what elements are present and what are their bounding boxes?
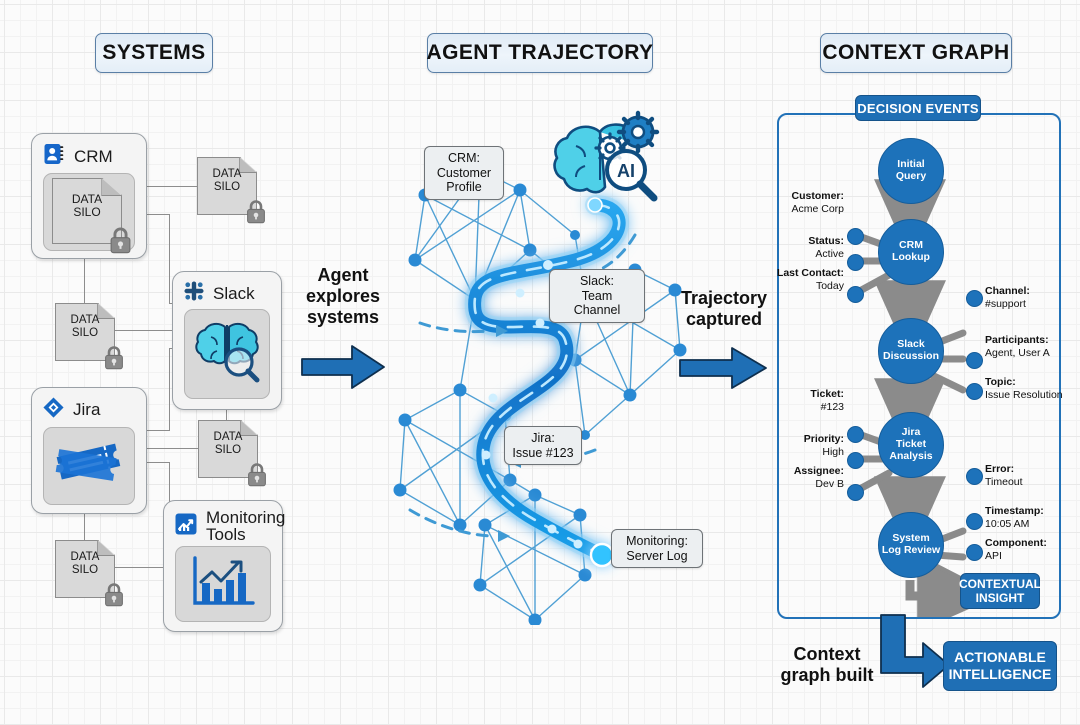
attr-key-error: Error: xyxy=(985,463,1014,475)
silo-label: DATA SILO xyxy=(52,193,122,220)
attr-text-channel: Channel: #support xyxy=(985,285,1030,311)
attr-value-ticket: #123 xyxy=(821,401,844,413)
attr-value-component: API xyxy=(985,550,1002,562)
trajectory-callout-monitoring[interactable]: Monitoring: Server Log xyxy=(611,529,703,568)
attr-dot-timestamp[interactable] xyxy=(966,513,983,530)
system-card-monitoring-label: Monitoring Tools xyxy=(206,509,285,544)
attr-text-priority: Priority: High xyxy=(770,433,844,459)
silo-label-line1: DATA xyxy=(198,431,258,444)
system-card-slack-label: Slack xyxy=(213,285,255,302)
attr-key-topic: Topic: xyxy=(985,376,1016,388)
system-card-jira-label: Jira xyxy=(73,401,100,418)
column-title-systems-label: SYSTEMS xyxy=(102,41,205,65)
attr-text-customer: Customer: Acme Corp xyxy=(770,190,844,216)
attr-dot-topic[interactable] xyxy=(966,383,983,400)
system-card-crm-header: CRM xyxy=(42,142,113,171)
attr-value-assignee: Dev B xyxy=(815,478,844,490)
column-title-agent-trajectory: AGENT TRAJECTORY xyxy=(427,33,653,73)
attr-key-assignee: Assignee: xyxy=(794,465,844,477)
system-card-slack-header: Slack xyxy=(183,280,255,307)
diagram-canvas: SYSTEMS AGENT TRAJECTORY CONTEXT GRAPH xyxy=(0,0,1080,725)
monitoring-chart-icon xyxy=(174,512,198,541)
context-node-system-log-review[interactable]: System Log Review xyxy=(878,512,944,578)
context-node-crm-lookup[interactable]: CRM Lookup xyxy=(878,219,944,285)
attr-text-error: Error: Timeout xyxy=(985,463,1023,489)
attr-value-channel: #support xyxy=(985,298,1026,310)
padlock-icon xyxy=(108,225,133,254)
footer-label-context-graph-built: Context graph built xyxy=(772,644,882,686)
system-card-monitoring-tools[interactable]: Monitoring Tools xyxy=(163,500,283,632)
attr-value-error: Timeout xyxy=(985,476,1023,488)
silo-label-line2: SILO xyxy=(198,444,258,457)
stage-arrow-2 xyxy=(678,345,768,396)
bar-line-chart-icon xyxy=(187,553,259,616)
actionable-intelligence-chip[interactable]: ACTIONABLE INTELLIGENCE xyxy=(943,641,1057,691)
attr-key-participants: Participants: xyxy=(985,334,1049,346)
attr-dot-channel[interactable] xyxy=(966,290,983,307)
system-card-slack-body xyxy=(184,309,270,399)
attr-dot-customer[interactable] xyxy=(847,228,864,245)
data-silo-crm-external: DATA SILO xyxy=(197,157,257,215)
gear-large-icon xyxy=(619,113,657,151)
elbow-right-arrow-icon xyxy=(873,613,953,688)
wire-jira-branch-h xyxy=(145,430,170,431)
column-title-systems: SYSTEMS xyxy=(95,33,213,73)
ai-badge-text: AI xyxy=(617,161,635,181)
attr-value-customer: Acme Corp xyxy=(791,203,844,215)
system-card-jira-body xyxy=(43,427,135,505)
padlock-icon xyxy=(103,344,125,370)
wire-jira-to-silo4 xyxy=(84,512,85,542)
attr-key-timestamp: Timestamp: xyxy=(985,505,1044,517)
silo-label: DATA SILO xyxy=(55,314,115,340)
ai-magnifier-icon: AI xyxy=(607,151,654,198)
context-node-initial-query[interactable]: Initial Query xyxy=(878,138,944,204)
wire-jira-mon-h xyxy=(145,462,170,463)
silo-label-line2: SILO xyxy=(55,564,115,577)
stage-label-trajectory-captured: Trajectory captured xyxy=(668,288,780,330)
brain-magnifier-icon xyxy=(187,317,267,392)
silo-label-line2: SILO xyxy=(52,206,122,219)
system-card-monitoring-body xyxy=(175,546,271,622)
attr-text-last-contact: Last Contact: Today xyxy=(758,267,844,293)
attr-value-status: Active xyxy=(815,248,844,260)
attr-key-priority: Priority: xyxy=(804,433,844,445)
trajectory-callout-crm[interactable]: CRM: Customer Profile xyxy=(424,146,504,200)
attr-value-priority: High xyxy=(822,446,844,458)
attr-dot-assignee[interactable] xyxy=(847,484,864,501)
silo-label-line2: SILO xyxy=(197,181,257,194)
system-card-crm-label: CRM xyxy=(74,148,113,165)
attr-value-last-contact: Today xyxy=(816,280,844,292)
silo-label: DATA SILO xyxy=(55,551,115,577)
silo-label-line2: SILO xyxy=(55,327,115,340)
padlock-icon xyxy=(103,581,125,607)
attr-value-participants: Agent, User A xyxy=(985,347,1050,359)
column-title-agent-trajectory-label: AGENT TRAJECTORY xyxy=(427,41,654,65)
attr-dot-component[interactable] xyxy=(966,544,983,561)
attr-dot-status[interactable] xyxy=(847,254,864,271)
attr-dot-last-contact[interactable] xyxy=(847,286,864,303)
right-arrow-icon xyxy=(678,345,768,391)
system-card-jira-header: Jira xyxy=(42,396,100,424)
system-card-slack[interactable]: Slack xyxy=(172,271,282,410)
trajectory-callout-jira[interactable]: Jira: Issue #123 xyxy=(504,426,582,465)
system-card-jira[interactable]: Jira xyxy=(31,387,147,514)
column-title-context-graph: CONTEXT GRAPH xyxy=(820,33,1012,73)
silo-label-line1: DATA xyxy=(52,193,122,206)
padlock-icon xyxy=(245,198,267,224)
data-silo-inner-crm: DATA SILO xyxy=(52,178,122,244)
context-node-slack-discussion[interactable]: Slack Discussion xyxy=(878,318,944,384)
silo-label: DATA SILO xyxy=(198,431,258,457)
system-card-monitoring-header: Monitoring Tools xyxy=(174,509,285,544)
attr-text-assignee: Assignee: Dev B xyxy=(770,465,844,491)
attr-key-component: Component: xyxy=(985,537,1047,549)
attr-dot-error[interactable] xyxy=(966,468,983,485)
wire-crm-branch-v xyxy=(169,214,170,304)
silo-label-line1: DATA xyxy=(55,314,115,327)
right-arrow-icon xyxy=(300,342,386,392)
trajectory-callout-slack[interactable]: Slack: Team Channel xyxy=(549,269,645,323)
wire-jira-to-silo3 xyxy=(145,448,198,449)
system-card-crm-body: DATA SILO xyxy=(43,173,135,251)
attr-key-ticket: Ticket: xyxy=(810,388,844,400)
footer-elbow-arrow xyxy=(873,613,953,693)
stage-arrow-1 xyxy=(300,342,386,397)
attr-value-topic: Issue Resolution xyxy=(985,389,1063,401)
attr-text-participants: Participants: Agent, User A xyxy=(985,334,1050,360)
data-silo-slack-jira: DATA SILO xyxy=(198,420,258,478)
slack-logo-icon xyxy=(183,280,205,307)
attr-dot-participants[interactable] xyxy=(966,352,983,369)
contextual-insight-chip[interactable]: CONTEXTUAL INSIGHT xyxy=(960,573,1040,609)
context-node-jira-ticket-analysis[interactable]: Jira Ticket Analysis xyxy=(878,412,944,478)
attr-key-customer: Customer: xyxy=(791,190,844,202)
data-silo-crm-slack: DATA SILO xyxy=(55,303,115,361)
attr-text-ticket: Ticket: #123 xyxy=(770,388,844,414)
column-title-context-graph-label: CONTEXT GRAPH xyxy=(822,41,1009,65)
system-card-crm[interactable]: CRM DATA SILO xyxy=(31,133,147,259)
crm-contact-book-icon xyxy=(42,142,66,171)
attr-text-component: Component: API xyxy=(985,537,1047,563)
jira-tickets-icon xyxy=(51,436,127,497)
attr-key-channel: Channel: xyxy=(985,285,1030,297)
jira-logo-icon xyxy=(42,396,65,424)
ai-brain-gears-magnifier-icon: AI xyxy=(548,108,666,213)
wire-jira-branch-v xyxy=(169,348,170,431)
silo-label-line1: DATA xyxy=(55,551,115,564)
data-silo-jira-monitoring: DATA SILO xyxy=(55,540,115,598)
attr-key-last-contact: Last Contact: xyxy=(777,267,844,279)
wire-crm-branch-h xyxy=(145,214,170,215)
attr-key-status: Status: xyxy=(808,235,844,247)
attr-dot-priority[interactable] xyxy=(847,452,864,469)
padlock-icon xyxy=(246,461,268,487)
attr-text-timestamp: Timestamp: 10:05 AM xyxy=(985,505,1044,531)
silo-label-line1: DATA xyxy=(197,168,257,181)
attr-text-topic: Topic: Issue Resolution xyxy=(985,376,1063,402)
wire-crm-to-silo1 xyxy=(145,186,197,187)
attr-text-status: Status: Active xyxy=(770,235,844,261)
silo-label: DATA SILO xyxy=(197,168,257,194)
wire-crm-to-silo2 xyxy=(84,257,85,306)
attr-dot-ticket[interactable] xyxy=(847,426,864,443)
trajectory-path xyxy=(475,205,620,555)
attr-value-timestamp: 10:05 AM xyxy=(985,518,1029,530)
